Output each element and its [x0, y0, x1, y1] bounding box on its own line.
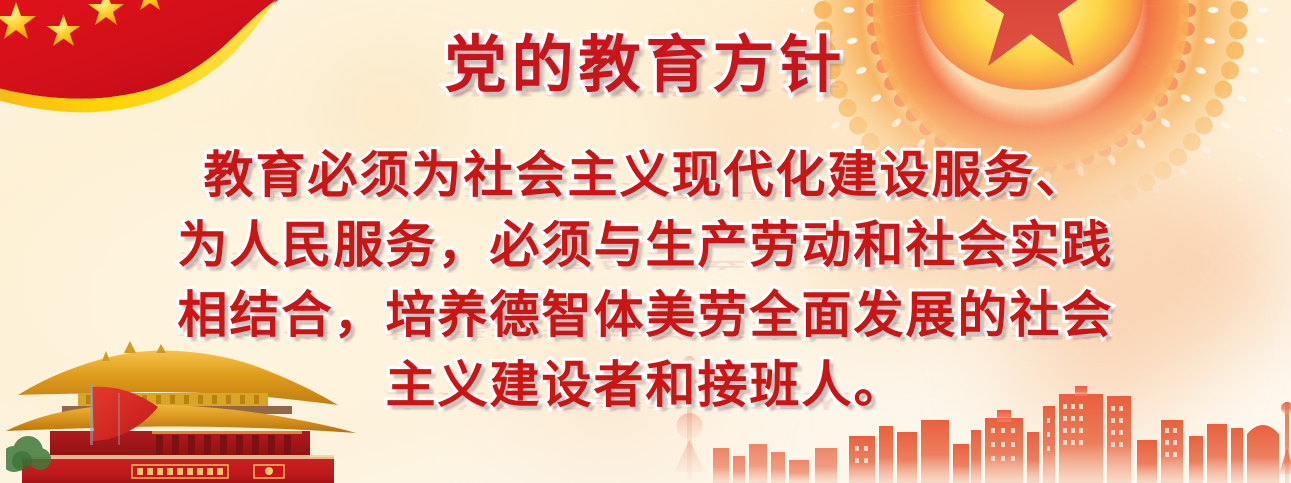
- policy-line-text: 为人民服务，必须与生产劳动和社会实践: [0, 214, 1291, 276]
- china-flag-icon: [0, 0, 290, 129]
- red-star-sunburst-icon: [801, 0, 1291, 210]
- city-skyline-icon: [651, 348, 1291, 483]
- tiananmen-gate-icon: [6, 331, 356, 483]
- policy-line: 为人民服务，必须与生产劳动和社会实践 为人民服务，必须与生产劳动和社会实践: [0, 214, 1291, 284]
- policy-line-reflection: 为人民服务，必须与生产劳动和社会实践: [0, 248, 1291, 272]
- party-education-policy-banner: 党的教育方针 党的教育方针 教育必须为社会主义现代化建设服务、 教育必须为社会主…: [0, 0, 1291, 483]
